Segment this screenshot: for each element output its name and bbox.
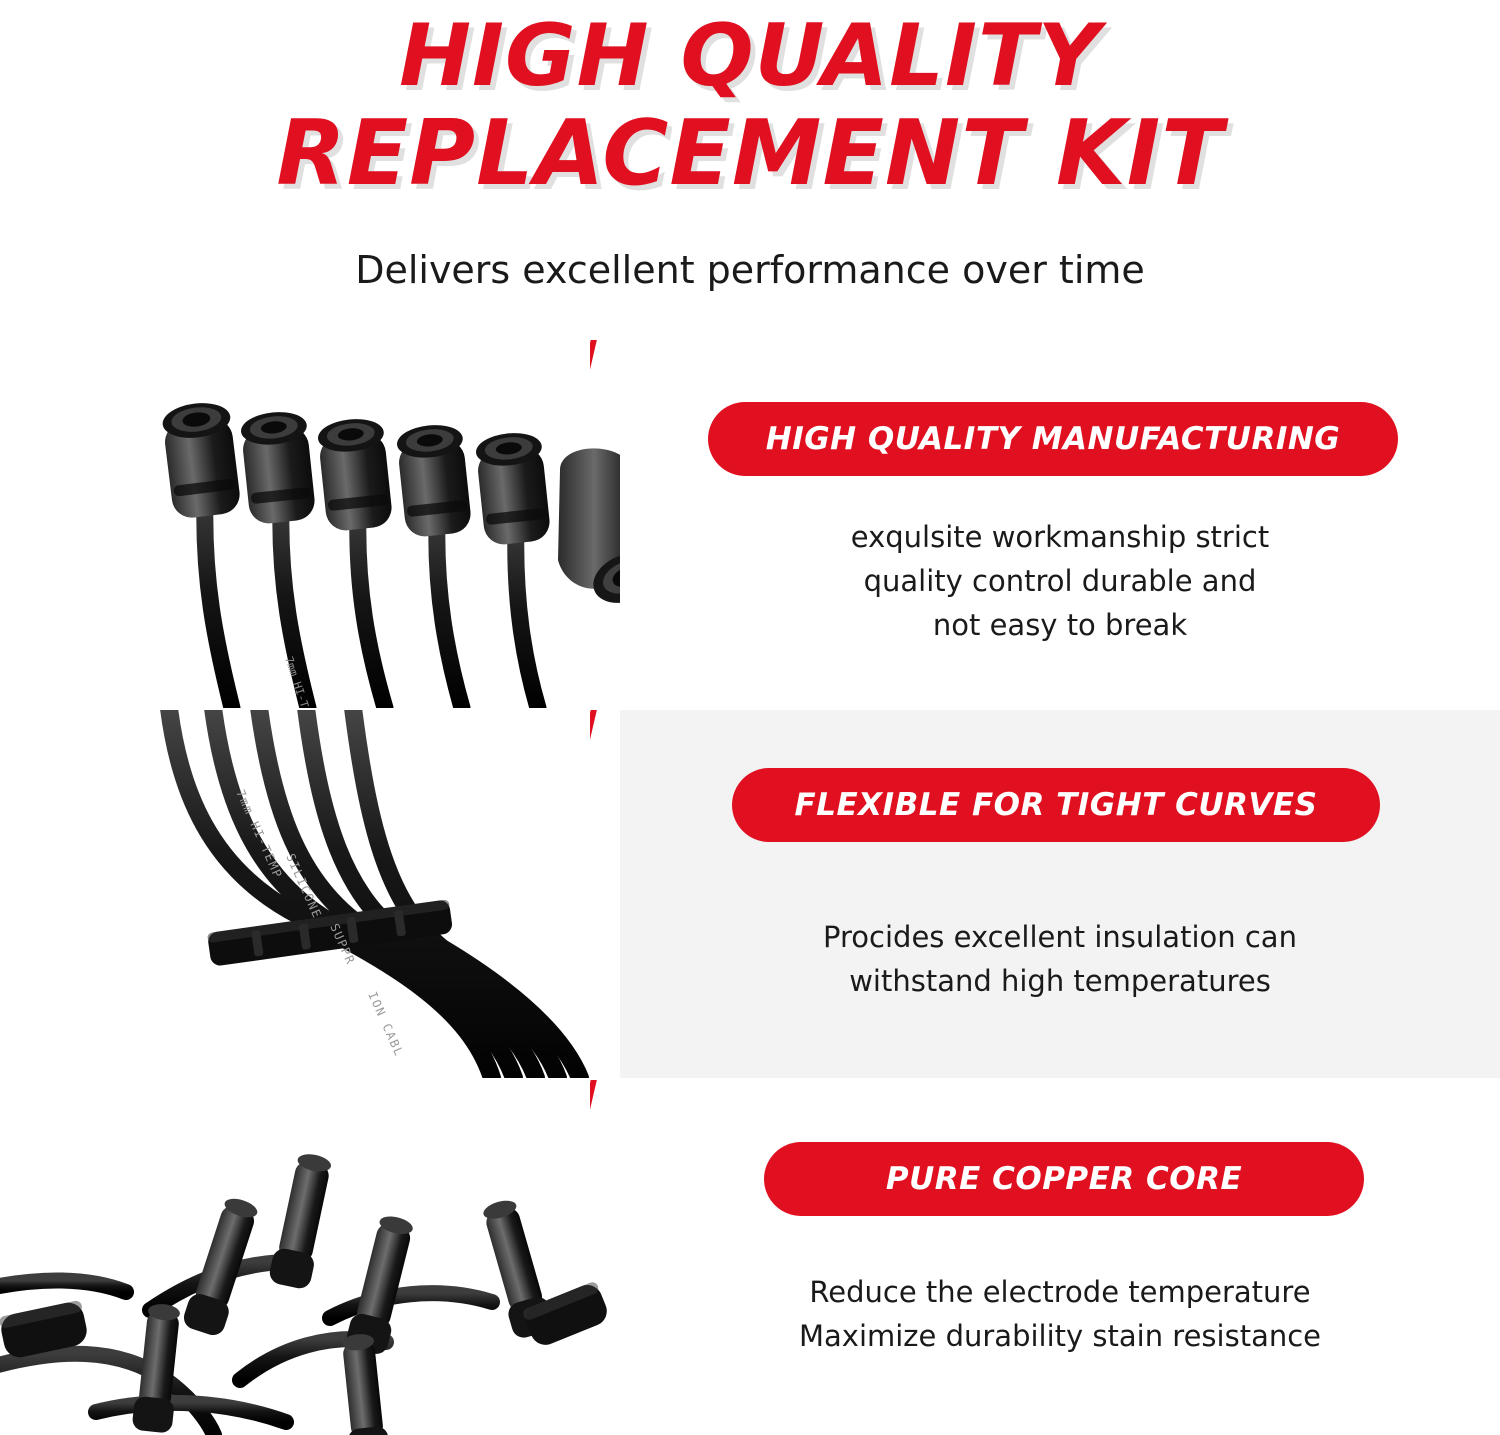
feature-content-1: HIGH QUALITY MANUFACTURING exqulsite wor… (620, 340, 1500, 708)
feature-content-3: PURE COPPER CORE Reduce the electrode te… (620, 1080, 1500, 1435)
feature-description-3: Reduce the electrode temperature Maximiz… (700, 1270, 1420, 1358)
feature-description-1: exqulsite workmanship strict quality con… (700, 515, 1420, 647)
headline-line-1: HIGH QUALITY (0, 8, 1500, 105)
feature-description-line: not easy to break (700, 603, 1420, 647)
headline-line-2: REPLACEMENT KIT (0, 105, 1500, 202)
feature-badge-3: PURE COPPER CORE (764, 1142, 1364, 1216)
subheadline: Delivers excellent performance over time (0, 248, 1500, 292)
red-diagonal-accent (590, 1080, 710, 1435)
feature-description-line: quality control durable and (700, 559, 1420, 603)
product-infographic-page: HIGH QUALITY REPLACEMENT KIT Delivers ex… (0, 0, 1500, 1435)
feature-description-line: withstand high temperatures (700, 959, 1420, 1003)
feature-badge-2: FLEXIBLE FOR TIGHT CURVES (732, 768, 1380, 842)
content-background (620, 1080, 1500, 1435)
feature-description-line: exqulsite workmanship strict (700, 515, 1420, 559)
red-diagonal-accent (590, 710, 710, 1078)
header: HIGH QUALITY REPLACEMENT KIT Delivers ex… (0, 0, 1500, 330)
feature-row-3: PURE COPPER CORE Reduce the electrode te… (0, 1080, 1500, 1435)
feature-description-line: Maximize durability stain resistance (700, 1314, 1420, 1358)
feature-description-line: Procides excellent insulation can (700, 915, 1420, 959)
feature-content-2: FLEXIBLE FOR TIGHT CURVES Procides excel… (620, 710, 1500, 1078)
headline-block: HIGH QUALITY REPLACEMENT KIT (0, 8, 1500, 202)
red-diagonal-accent (590, 340, 710, 708)
feature-description-2: Procides excellent insulation can withst… (700, 915, 1420, 1003)
content-background (620, 710, 1500, 1078)
feature-description-line: Reduce the electrode temperature (700, 1270, 1420, 1314)
feature-badge-1: HIGH QUALITY MANUFACTURING (708, 402, 1398, 476)
feature-row-2: 7mm HI-TEMP SILICONE SUPPR ION CABL FLEX… (0, 710, 1500, 1078)
wire-marking-text: ION CABL (365, 990, 406, 1059)
feature-row-1: 7mm HI-T HIGH QUALITY MANUFACTURING exqu… (0, 340, 1500, 708)
